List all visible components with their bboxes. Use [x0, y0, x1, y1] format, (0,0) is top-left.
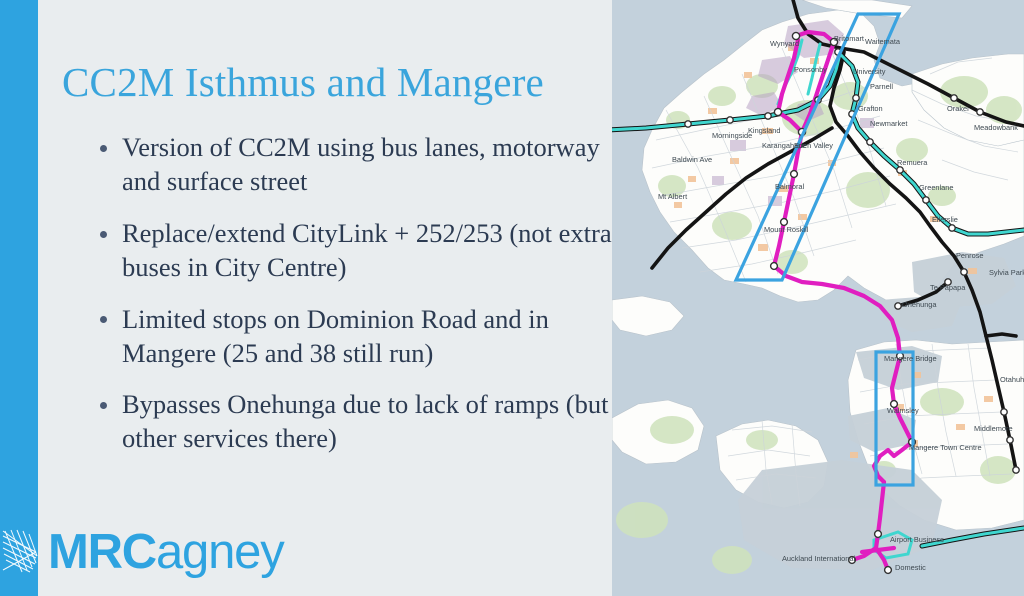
map-place-label: Middlemore [974, 424, 1013, 433]
map-place-label: Ellerslie [932, 215, 958, 224]
map-place-label: Onehunga [902, 300, 937, 309]
bullet-dot-icon [100, 316, 107, 323]
logo-wordmark: MRCagney [48, 524, 284, 580]
map-place-label: Waitemata [865, 37, 901, 46]
bullet-list: Version of CC2M using bus lanes, motorwa… [56, 131, 612, 474]
content-pane: CC2M Isthmus and Mangere Version of CC2M… [38, 0, 612, 596]
map-place-label: Penrose [956, 251, 984, 260]
slide-canvas: CC2M Isthmus and Mangere Version of CC2M… [0, 0, 1024, 596]
bullet-dot-icon [100, 145, 107, 152]
map-place-label: Kingsland [748, 126, 780, 135]
map-place-label: Ponsonby [794, 65, 827, 74]
logo-text-light: agney [156, 525, 284, 579]
map-place-label: Newmarket [870, 119, 907, 128]
list-item: Limited stops on Dominion Road and in Ma… [56, 303, 612, 371]
left-accent-stripe [0, 0, 38, 596]
map-place-label: Greenlane [919, 183, 954, 192]
map-place-label: Sylvia Park [989, 268, 1024, 277]
map-place-label: Balmoral [775, 182, 805, 191]
map-place-label: Mangere Town Centre [909, 443, 982, 452]
brand-logo: MRCagney [0, 518, 300, 578]
list-item-text: Replace/extend CityLink + 252/253 (not e… [122, 218, 612, 282]
map-place-label: Mt Albert [658, 192, 687, 201]
map-place-label: Morningside [712, 131, 752, 140]
transit-map[interactable]: WynyardBritomartWaitemataPonsonbyUnivers… [612, 0, 1024, 596]
map-place-label: Mount Roskill [764, 225, 809, 234]
list-item: Bypasses Onehunga due to lack of ramps (… [56, 388, 612, 456]
bullet-dot-icon [100, 231, 107, 238]
map-place-label: Remuera [897, 158, 928, 167]
map-place-label: Domestic [895, 563, 926, 572]
map-canvas[interactable]: WynyardBritomartWaitemataPonsonbyUnivers… [612, 0, 1024, 596]
list-item-text: Version of CC2M using bus lanes, motorwa… [122, 132, 600, 196]
map-place-label: Mangere Bridge [884, 354, 937, 363]
map-place-label: Grafton [858, 104, 883, 113]
map-place-label: Meadowbank [974, 123, 1018, 132]
map-place-label: Otahuhu [1000, 375, 1024, 384]
map-place-label: Orakei [947, 104, 969, 113]
map-place-label: Auckland International [782, 554, 855, 563]
list-item: Version of CC2M using bus lanes, motorwa… [56, 131, 612, 199]
list-item: Replace/extend CityLink + 252/253 (not e… [56, 217, 612, 285]
map-place-label: Parnell [870, 82, 893, 91]
map-place-label: Walmsley [887, 406, 919, 415]
map-place-label: Wynyard [770, 39, 799, 48]
list-item-text: Bypasses Onehunga due to lack of ramps (… [122, 389, 608, 453]
map-place-label: Airport Business [890, 535, 944, 544]
map-place-label: University [853, 67, 886, 76]
page-title: CC2M Isthmus and Mangere [62, 58, 544, 106]
map-place-label: Te Papapa [930, 283, 966, 292]
map-place-label: Baldwin Ave [672, 155, 712, 164]
mesh-logo-icon [2, 522, 38, 574]
list-item-text: Limited stops on Dominion Road and in Ma… [122, 304, 549, 368]
map-place-label: Britomart [834, 34, 864, 43]
bullet-dot-icon [100, 402, 107, 409]
logo-text-bold: MRC [48, 525, 156, 579]
map-place-label: Eden Valley [794, 141, 833, 150]
